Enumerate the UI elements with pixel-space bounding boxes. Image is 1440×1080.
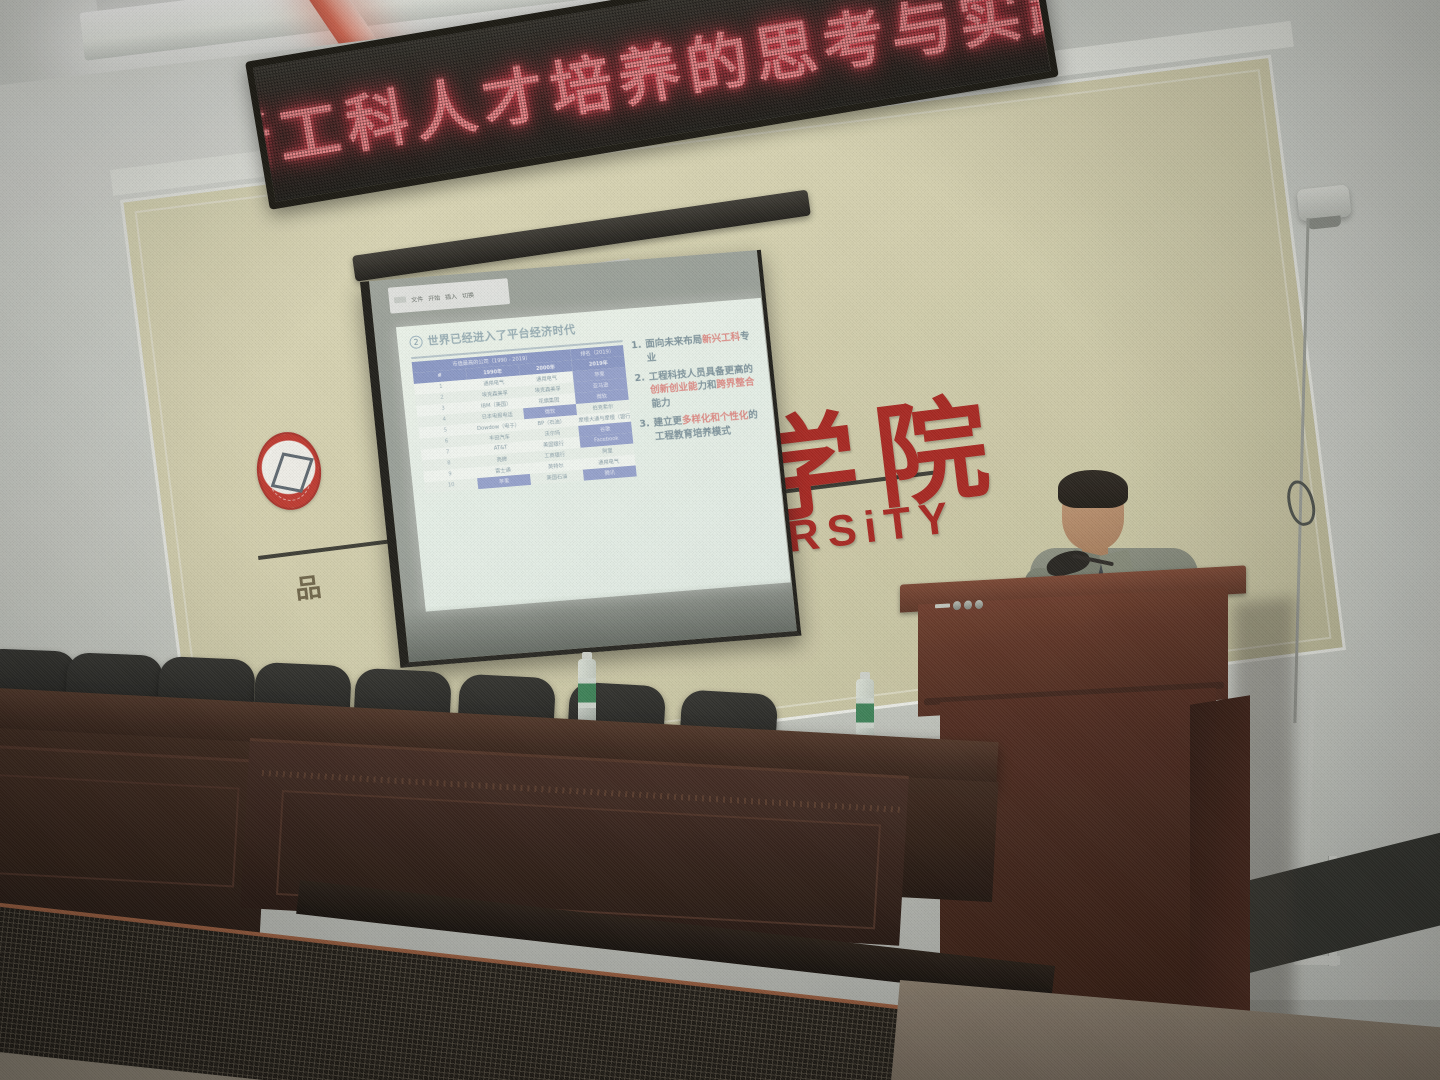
toolbar-item-3[interactable]: 切换: [461, 289, 474, 299]
bullet-text: 建立更多样化和个性化的工程教育培养模式: [653, 408, 765, 444]
podium-emblem-dot-2: [964, 600, 972, 609]
bullet-plain: 面向未来布局: [645, 335, 703, 351]
bottle-label: [856, 698, 874, 728]
bullet-number: 2.: [634, 371, 649, 413]
slide-number-badge: 2: [409, 335, 423, 349]
bullet-highlight: 新兴工科: [702, 332, 741, 346]
slide-bullet: 1.面向未来布局新兴工科专业: [630, 330, 757, 367]
slide-bullets: 1.面向未来布局新兴工科专业2.工程科技人员具备更高的创新创业能力和跨界整合能力…: [630, 328, 768, 476]
slide-body: 市值最高的公司（1990 - 2019）排名（2019）#1990年2000年2…: [411, 328, 768, 493]
toolbar-item-0[interactable]: 文件: [411, 294, 424, 304]
bullet-plain: 能力: [651, 398, 671, 410]
bullet-text: 工程科技人员具备更高的创新创业能力和跨界整合能力: [648, 362, 762, 412]
lecture-hall-photo: 品 学院 ERSiTY 新工科人才培养的思考与实践 文件 开始 插入 切换 2 …: [0, 0, 1440, 1080]
podium-emblem-dot-1: [953, 600, 961, 609]
head-table-left-inset: [0, 772, 240, 887]
ceiling-speaker-icon: [1296, 184, 1351, 221]
slide: 2 世界已经进入了平台经济时代 市值最高的公司（1990 - 2019）排名（2…: [396, 298, 791, 612]
bottle-label: [578, 678, 596, 708]
slide-bullet: 3.建立更多样化和个性化的工程教育培养模式: [639, 408, 766, 445]
crest-ring: [263, 438, 316, 503]
bullet-plain: 建立更: [653, 415, 683, 428]
slide-table: 市值最高的公司（1990 - 2019）排名（2019）#1990年2000年2…: [411, 338, 637, 493]
presenter-hair: [1058, 470, 1128, 508]
toolbar-item-1[interactable]: 开始: [428, 292, 441, 302]
bullet-highlight: 多样化和个性化: [681, 410, 748, 426]
bullet-number: 3.: [639, 417, 652, 445]
wall-side-character: 品: [293, 566, 324, 606]
bullet-highlight: 跨界整合: [716, 377, 755, 391]
ranking-table: 市值最高的公司（1990 - 2019）排名（2019）#1990年2000年2…: [412, 345, 637, 493]
bullet-number: 1.: [630, 339, 643, 367]
podium-emblem-dot-3: [975, 599, 983, 608]
bullet-highlight: 创新创业能: [650, 382, 699, 397]
slide-bullet: 2.工程科技人员具备更高的创新创业能力和跨界整合能力: [634, 362, 762, 413]
water-bottle: [578, 652, 596, 728]
bullet-plain: 力和: [697, 380, 717, 392]
toolbar-chip: [394, 296, 407, 303]
projection-screen: 文件 开始 插入 切换 2 世界已经进入了平台经济时代 市值最高的公司（1990…: [360, 250, 801, 668]
presentation-app-toolbar[interactable]: 文件 开始 插入 切换: [388, 278, 510, 313]
bullet-text: 面向未来布局新兴工科专业: [645, 330, 757, 366]
toolbar-item-2[interactable]: 插入: [445, 291, 458, 301]
podium-emblem-bar: [935, 603, 950, 608]
